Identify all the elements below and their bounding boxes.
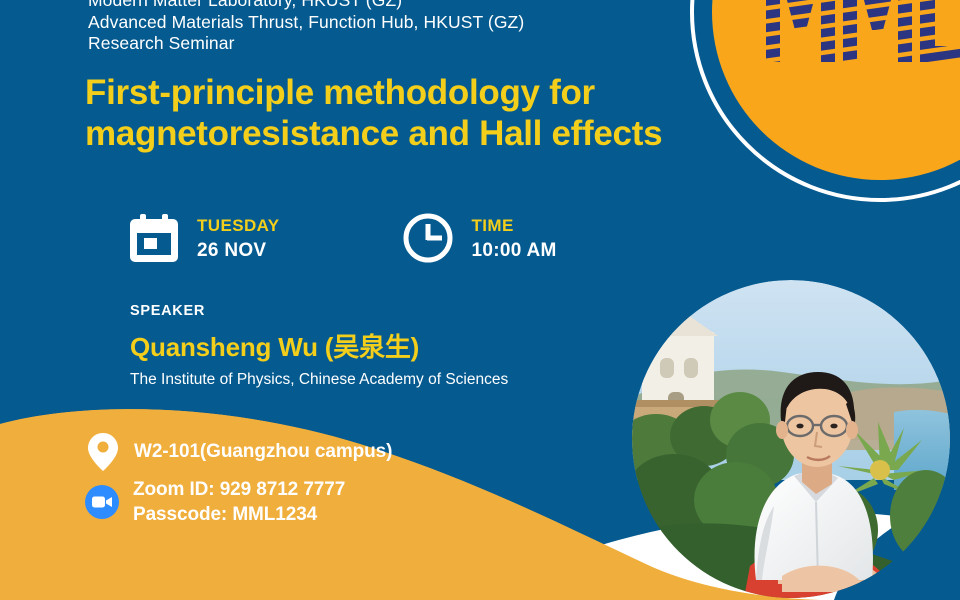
clock-icon [402,212,454,264]
zoom-row: Zoom ID: 929 8712 7777 Passcode: MML1234 [84,477,345,527]
event-day-label: TUESDAY [197,217,279,234]
calendar-icon [128,212,180,264]
zoom-text: Zoom ID: 929 8712 7777 Passcode: MML1234 [133,477,345,527]
zoom-video-icon [84,484,120,520]
header-text: Modern Matter Laboratory, HKUST (GZ) Adv… [88,0,688,55]
event-date-text: TUESDAY 26 NOV [197,217,279,260]
page-title: First-principle methodology for magnetor… [85,72,735,154]
speaker-label: SPEAKER [130,303,650,319]
speaker-affiliation: The Institute of Physics, Chinese Academ… [130,371,650,389]
header-line-thrust: Advanced Materials Thrust, Function Hub,… [88,12,688,34]
event-meta-row: TUESDAY 26 NOV TIME 10:00 AM [128,212,557,264]
speaker-block: SPEAKER Quansheng Wu (吴泉生) The Institute… [130,303,650,389]
mml-logo-letters [766,0,960,62]
zoom-passcode-line: Passcode: MML1234 [133,502,345,527]
event-date-value: 26 NOV [197,241,279,260]
event-time-text: TIME 10:00 AM [471,217,556,260]
event-time-label: TIME [471,217,556,234]
header-line-seminar: Research Seminar [88,33,688,55]
event-time-value: 10:00 AM [471,241,556,260]
event-time-item: TIME 10:00 AM [402,212,556,264]
speaker-name: Quansheng Wu (吴泉生) [130,327,650,364]
venue-text: W2-101(Guangzhou campus) [134,441,392,463]
title-line-1: First-principle methodology for [85,72,735,113]
zoom-id-line: Zoom ID: 929 8712 7777 [133,477,345,502]
header-line-lab: Modern Matter Laboratory, HKUST (GZ) [88,0,688,12]
map-pin-icon [86,432,120,472]
venue-row: W2-101(Guangzhou campus) [86,432,392,472]
speaker-photo [632,280,950,598]
title-line-2: magnetoresistance and Hall effects [85,113,735,154]
seminar-poster: Modern Matter Laboratory, HKUST (GZ) Adv… [0,0,960,600]
event-date-item: TUESDAY 26 NOV [128,212,279,264]
